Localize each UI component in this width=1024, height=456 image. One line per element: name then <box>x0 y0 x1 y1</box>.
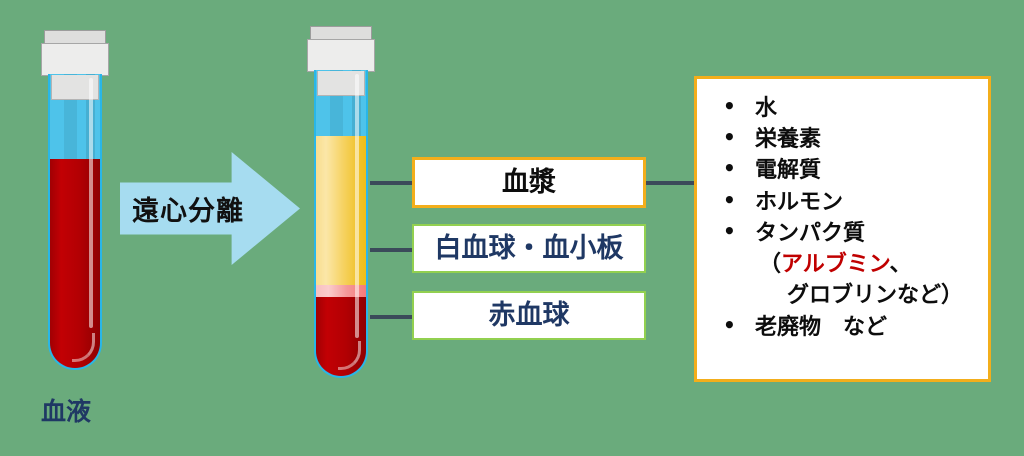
list-item: タンパク質 <box>697 218 988 249</box>
connector-wbc-left <box>370 248 416 252</box>
centrifuge-arrow-label: 遠心分離 <box>120 189 244 228</box>
tube-body-whole-blood <box>48 74 102 370</box>
tube-body-centrifuged <box>314 70 368 378</box>
caption-whole-blood: 血液 <box>41 392 91 428</box>
connector-plasma-to-panel <box>640 181 698 185</box>
list-item: 水 <box>697 93 988 124</box>
tube-glass-highlight <box>89 78 93 328</box>
protein-albumin: アルブミン <box>781 252 889 277</box>
label-text-wbc-platelets: 白血球・血小板 <box>435 235 624 262</box>
tube-cap-body-icon <box>307 39 375 72</box>
test-tube-whole-blood <box>41 30 109 370</box>
protein-paren-open: （ <box>759 252 781 277</box>
label-text-plasma: 血漿 <box>502 169 556 196</box>
label-box-wbc-platelets[interactable]: 白血球・血小板 <box>412 224 646 273</box>
label-text-rbc: 赤血球 <box>489 302 570 329</box>
plasma-components-list: 水 栄養素 電解質 ホルモン タンパク質 （アルブミン、 グロブリンなど） 老廃… <box>697 79 988 343</box>
connector-plasma-left <box>370 181 416 185</box>
plasma-components-panel: 水 栄養素 電解質 ホルモン タンパク質 （アルブミン、 グロブリンなど） 老廃… <box>694 76 991 382</box>
list-item: ホルモン <box>697 187 988 218</box>
tube-cap-top-icon <box>310 26 372 40</box>
list-item: 栄養素 <box>697 124 988 155</box>
connector-rbc-left <box>370 315 416 319</box>
tube-cap-body-icon <box>41 43 109 76</box>
diagram-canvas: 血液 遠心分離 血漿 <box>0 0 1024 456</box>
protein-comma: 、 <box>889 252 911 277</box>
label-box-rbc[interactable]: 赤血球 <box>412 291 646 340</box>
tube-glass-highlight <box>355 74 359 338</box>
list-item-protein-examples-2: グロブリンなど） <box>697 280 988 311</box>
list-item-protein-examples-1: （アルブミン、 <box>697 249 988 280</box>
test-tube-centrifuged <box>307 26 375 376</box>
list-item: 老廃物 など <box>697 312 988 343</box>
list-item: 電解質 <box>697 155 988 186</box>
label-box-plasma[interactable]: 血漿 <box>412 157 646 208</box>
tube-cap-top-icon <box>44 30 106 44</box>
centrifuge-arrow: 遠心分離 <box>120 152 300 265</box>
